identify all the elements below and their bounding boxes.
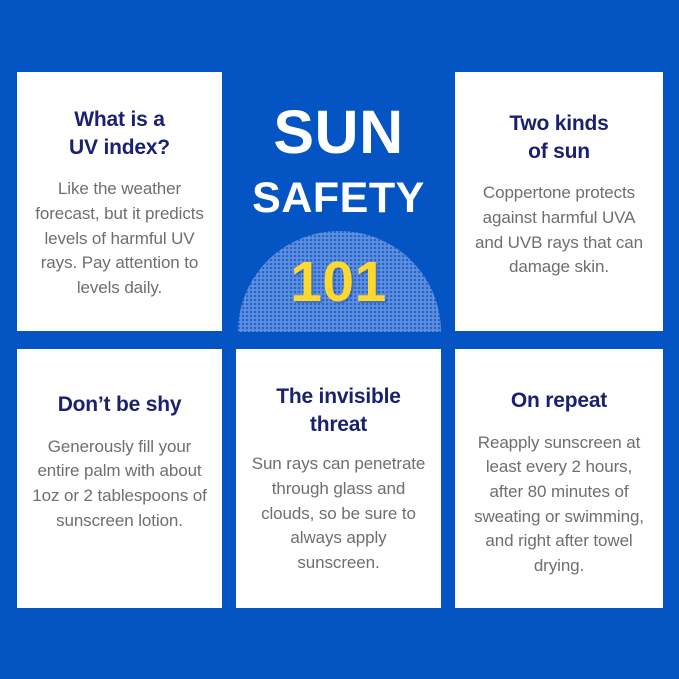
sun-safety-infographic: What is a UV index? Like the weather for… xyxy=(0,0,679,679)
logo-line-safety: SAFETY xyxy=(236,177,441,220)
card-invisible-threat-body: Sun rays can penetrate through glass and… xyxy=(250,452,427,575)
card-on-repeat-body: Reapply sunscreen at least every 2 hours… xyxy=(469,431,649,579)
card-dont-be-shy-heading: Don’t be shy xyxy=(58,391,182,419)
card-uv-index-heading: What is a UV index? xyxy=(69,106,170,161)
card-invisible-threat-heading: The invisible threat xyxy=(276,383,401,438)
card-dont-be-shy: Don’t be shy Generously fill your entire… xyxy=(17,349,222,608)
card-dont-be-shy-body: Generously fill your entire palm with ab… xyxy=(31,435,208,534)
logo-title: SUN SAFETY xyxy=(236,72,441,220)
card-two-kinds-of-sun: Two kinds of sun Coppertone protects aga… xyxy=(455,72,663,331)
sun-safety-logo: SUN SAFETY 101 xyxy=(236,72,441,332)
card-on-repeat-heading: On repeat xyxy=(511,387,607,415)
card-invisible-threat: The invisible threat Sun rays can penetr… xyxy=(236,349,441,608)
card-on-repeat: On repeat Reapply sunscreen at least eve… xyxy=(455,349,663,608)
logo-badge-101: 101 xyxy=(236,254,441,311)
card-two-kinds-of-sun-body: Coppertone protects against harmful UVA … xyxy=(469,181,649,280)
card-uv-index: What is a UV index? Like the weather for… xyxy=(17,72,222,331)
card-uv-index-body: Like the weather forecast, but it predic… xyxy=(31,177,208,300)
logo-line-sun: SUN xyxy=(236,102,441,163)
card-two-kinds-of-sun-heading: Two kinds of sun xyxy=(509,110,608,165)
